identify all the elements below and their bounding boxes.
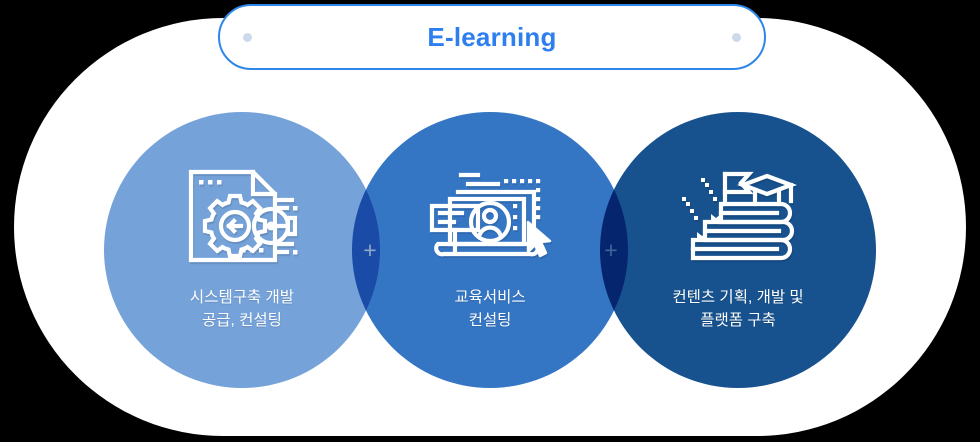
page-title: E-learning bbox=[427, 22, 556, 53]
venn-cell-systems[interactable]: 시스템구축 개발 공급, 컨설팅 bbox=[104, 112, 380, 388]
venn-cell-education[interactable]: 교육서비스 컨설팅 bbox=[352, 112, 628, 388]
venn-cell-contents[interactable]: 컨텐츠 기획, 개발 및 플랫폼 구축 bbox=[600, 112, 876, 388]
diagram-stage: + + bbox=[0, 0, 980, 442]
badge-dot-left-icon bbox=[243, 33, 252, 42]
laptop-user-cursor-icon bbox=[425, 164, 555, 268]
venn-label-systems: 시스템구축 개발 공급, 컨설팅 bbox=[190, 286, 294, 333]
title-badge: E-learning bbox=[218, 4, 766, 70]
venn-label-contents: 컨텐츠 기획, 개발 및 플랫폼 구축 bbox=[672, 286, 803, 333]
badge-dot-right-icon bbox=[732, 33, 741, 42]
books-graduation-cap-icon bbox=[673, 164, 803, 268]
venn-label-education: 교육서비스 컨설팅 bbox=[454, 286, 525, 333]
document-gears-icon bbox=[177, 164, 307, 268]
